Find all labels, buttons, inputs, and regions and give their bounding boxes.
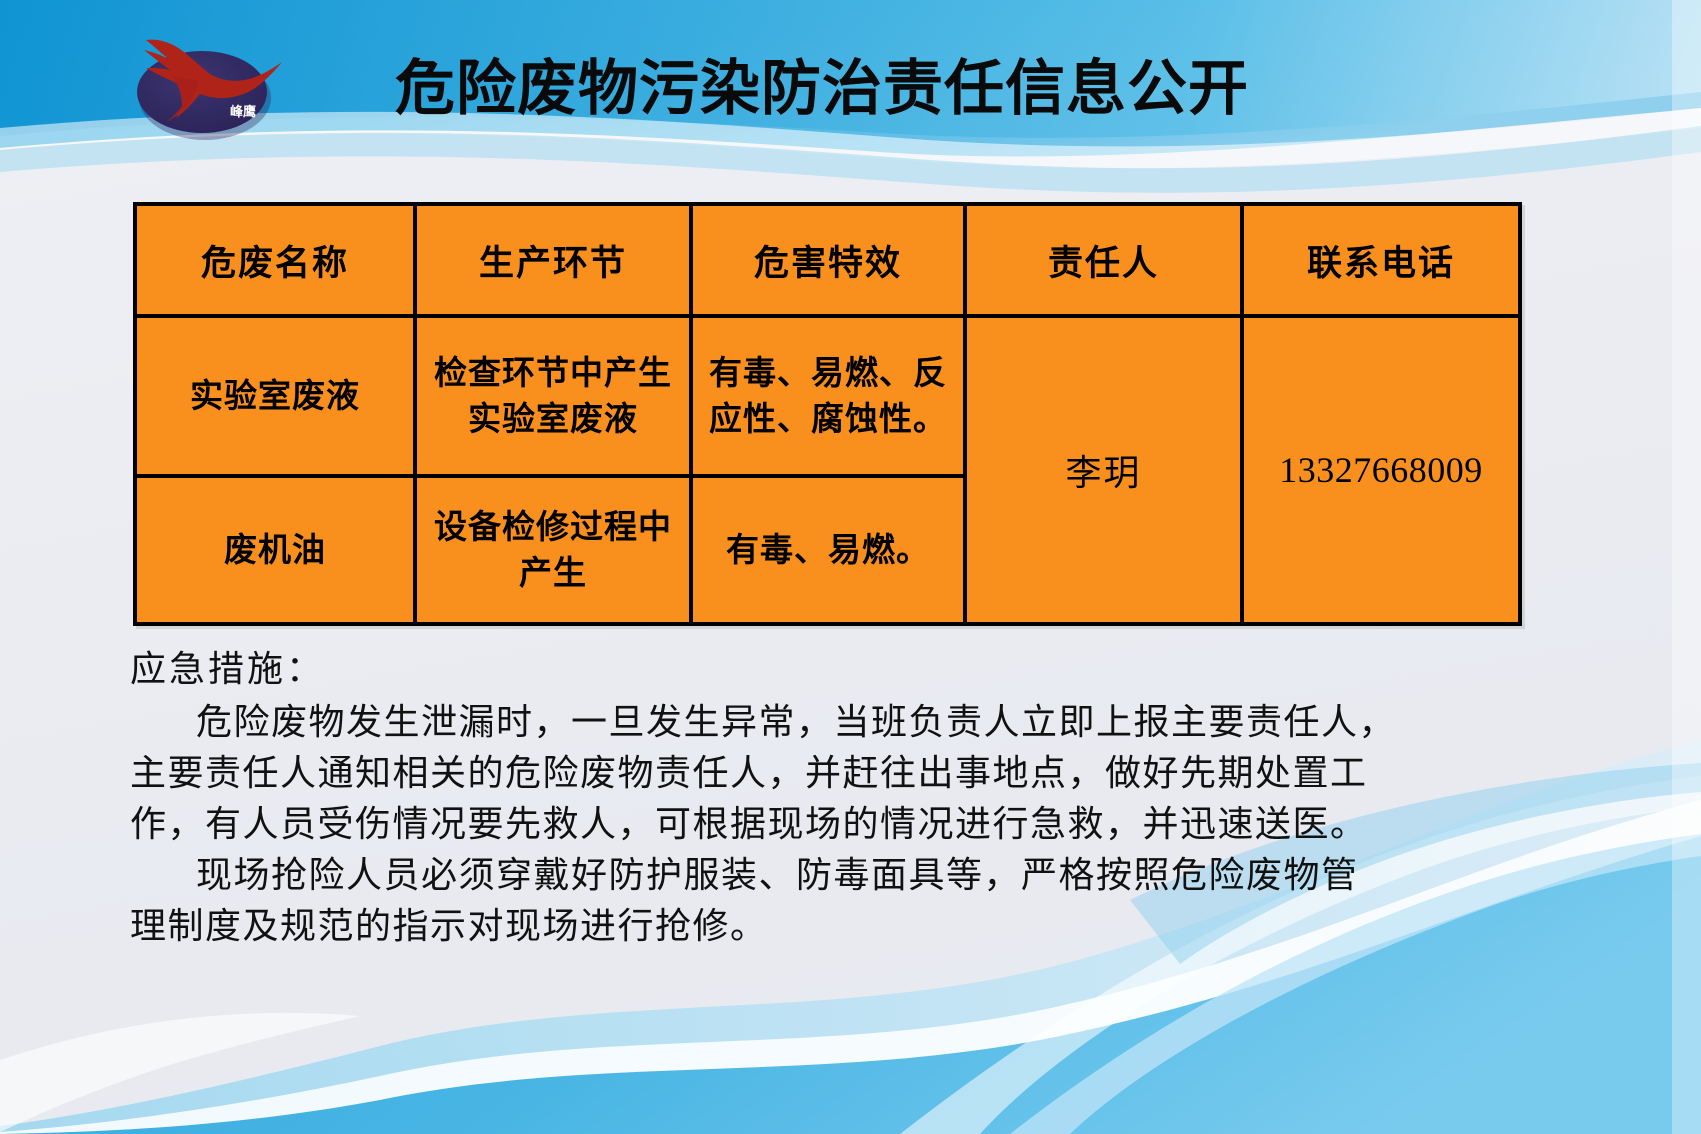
logo-text: 峰鹰: [230, 104, 256, 120]
hazard-line-2: 应性、腐蚀性。: [697, 396, 959, 442]
hazard-line-1: 有毒、易燃、反: [697, 350, 959, 396]
measures-line-2: 主要责任人通知相关的危险废物责任人，并赶往出事地点，做好先期处置工: [130, 748, 1475, 799]
stage-line-1: 检查环节中产生: [421, 350, 685, 396]
eagle-logo: 峰鹰: [112, 18, 292, 148]
hazardous-waste-table: 危废名称 生产环节 危害特效 责任人 联系电话 实验室废液 检查环节中产生 实验…: [133, 202, 1522, 626]
table-row: 实验室废液 检查环节中产生 实验室废液 有毒、易燃、反 应性、腐蚀性。 李玥 1…: [135, 316, 1520, 476]
stage-line-2: 产生: [421, 550, 685, 596]
stage-line-2: 实验室废液: [421, 396, 685, 442]
cell-waste-name-2: 废机油: [135, 476, 415, 624]
measures-line-5: 理制度及规范的指示对现场进行抢修。: [130, 901, 1475, 952]
header-responsible-person: 责任人: [965, 204, 1242, 316]
cell-production-stage-2: 设备检修过程中 产生: [415, 476, 691, 624]
cell-contact-phone: 13327668009: [1242, 316, 1520, 624]
cell-hazard-1: 有毒、易燃、反 应性、腐蚀性。: [691, 316, 965, 476]
cell-waste-name-1: 实验室废液: [135, 316, 415, 476]
header-hazard-property: 危害特效: [691, 204, 965, 316]
header-contact-phone: 联系电话: [1242, 204, 1520, 316]
cell-responsible-person: 李玥: [965, 316, 1242, 624]
stage-line-1: 设备检修过程中: [421, 504, 685, 550]
header-waste-name: 危废名称: [135, 204, 415, 316]
page-title: 危险废物污染防治责任信息公开: [395, 52, 1295, 130]
header-production-stage: 生产环节: [415, 204, 691, 316]
measures-line-1: 危险废物发生泄漏时，一旦发生异常，当班负责人立即上报主要责任人，: [130, 697, 1475, 748]
waste-table-container: 危废名称 生产环节 危害特效 责任人 联系电话 实验室废液 检查环节中产生 实验…: [133, 202, 1458, 626]
measures-line-3: 作，有人员受伤情况要先救人，可根据现场的情况进行急救，并迅速送医。: [130, 799, 1475, 850]
measures-line-4: 现场抢险人员必须穿戴好防护服装、防毒面具等，严格按照危险废物管: [130, 850, 1475, 901]
measures-heading: 应急措施：: [130, 645, 1475, 693]
cell-production-stage-1: 检查环节中产生 实验室废液: [415, 316, 691, 476]
emergency-measures-block: 应急措施： 危险废物发生泄漏时，一旦发生异常，当班负责人立即上报主要责任人， 主…: [130, 645, 1475, 952]
slide-canvas: 峰鹰 危险废物污染防治责任信息公开 危废名称 生产环节 危害特效 责任人 联系电…: [0, 0, 1701, 1134]
cell-hazard-2: 有毒、易燃。: [691, 476, 965, 624]
table-header-row: 危废名称 生产环节 危害特效 责任人 联系电话: [135, 204, 1520, 316]
